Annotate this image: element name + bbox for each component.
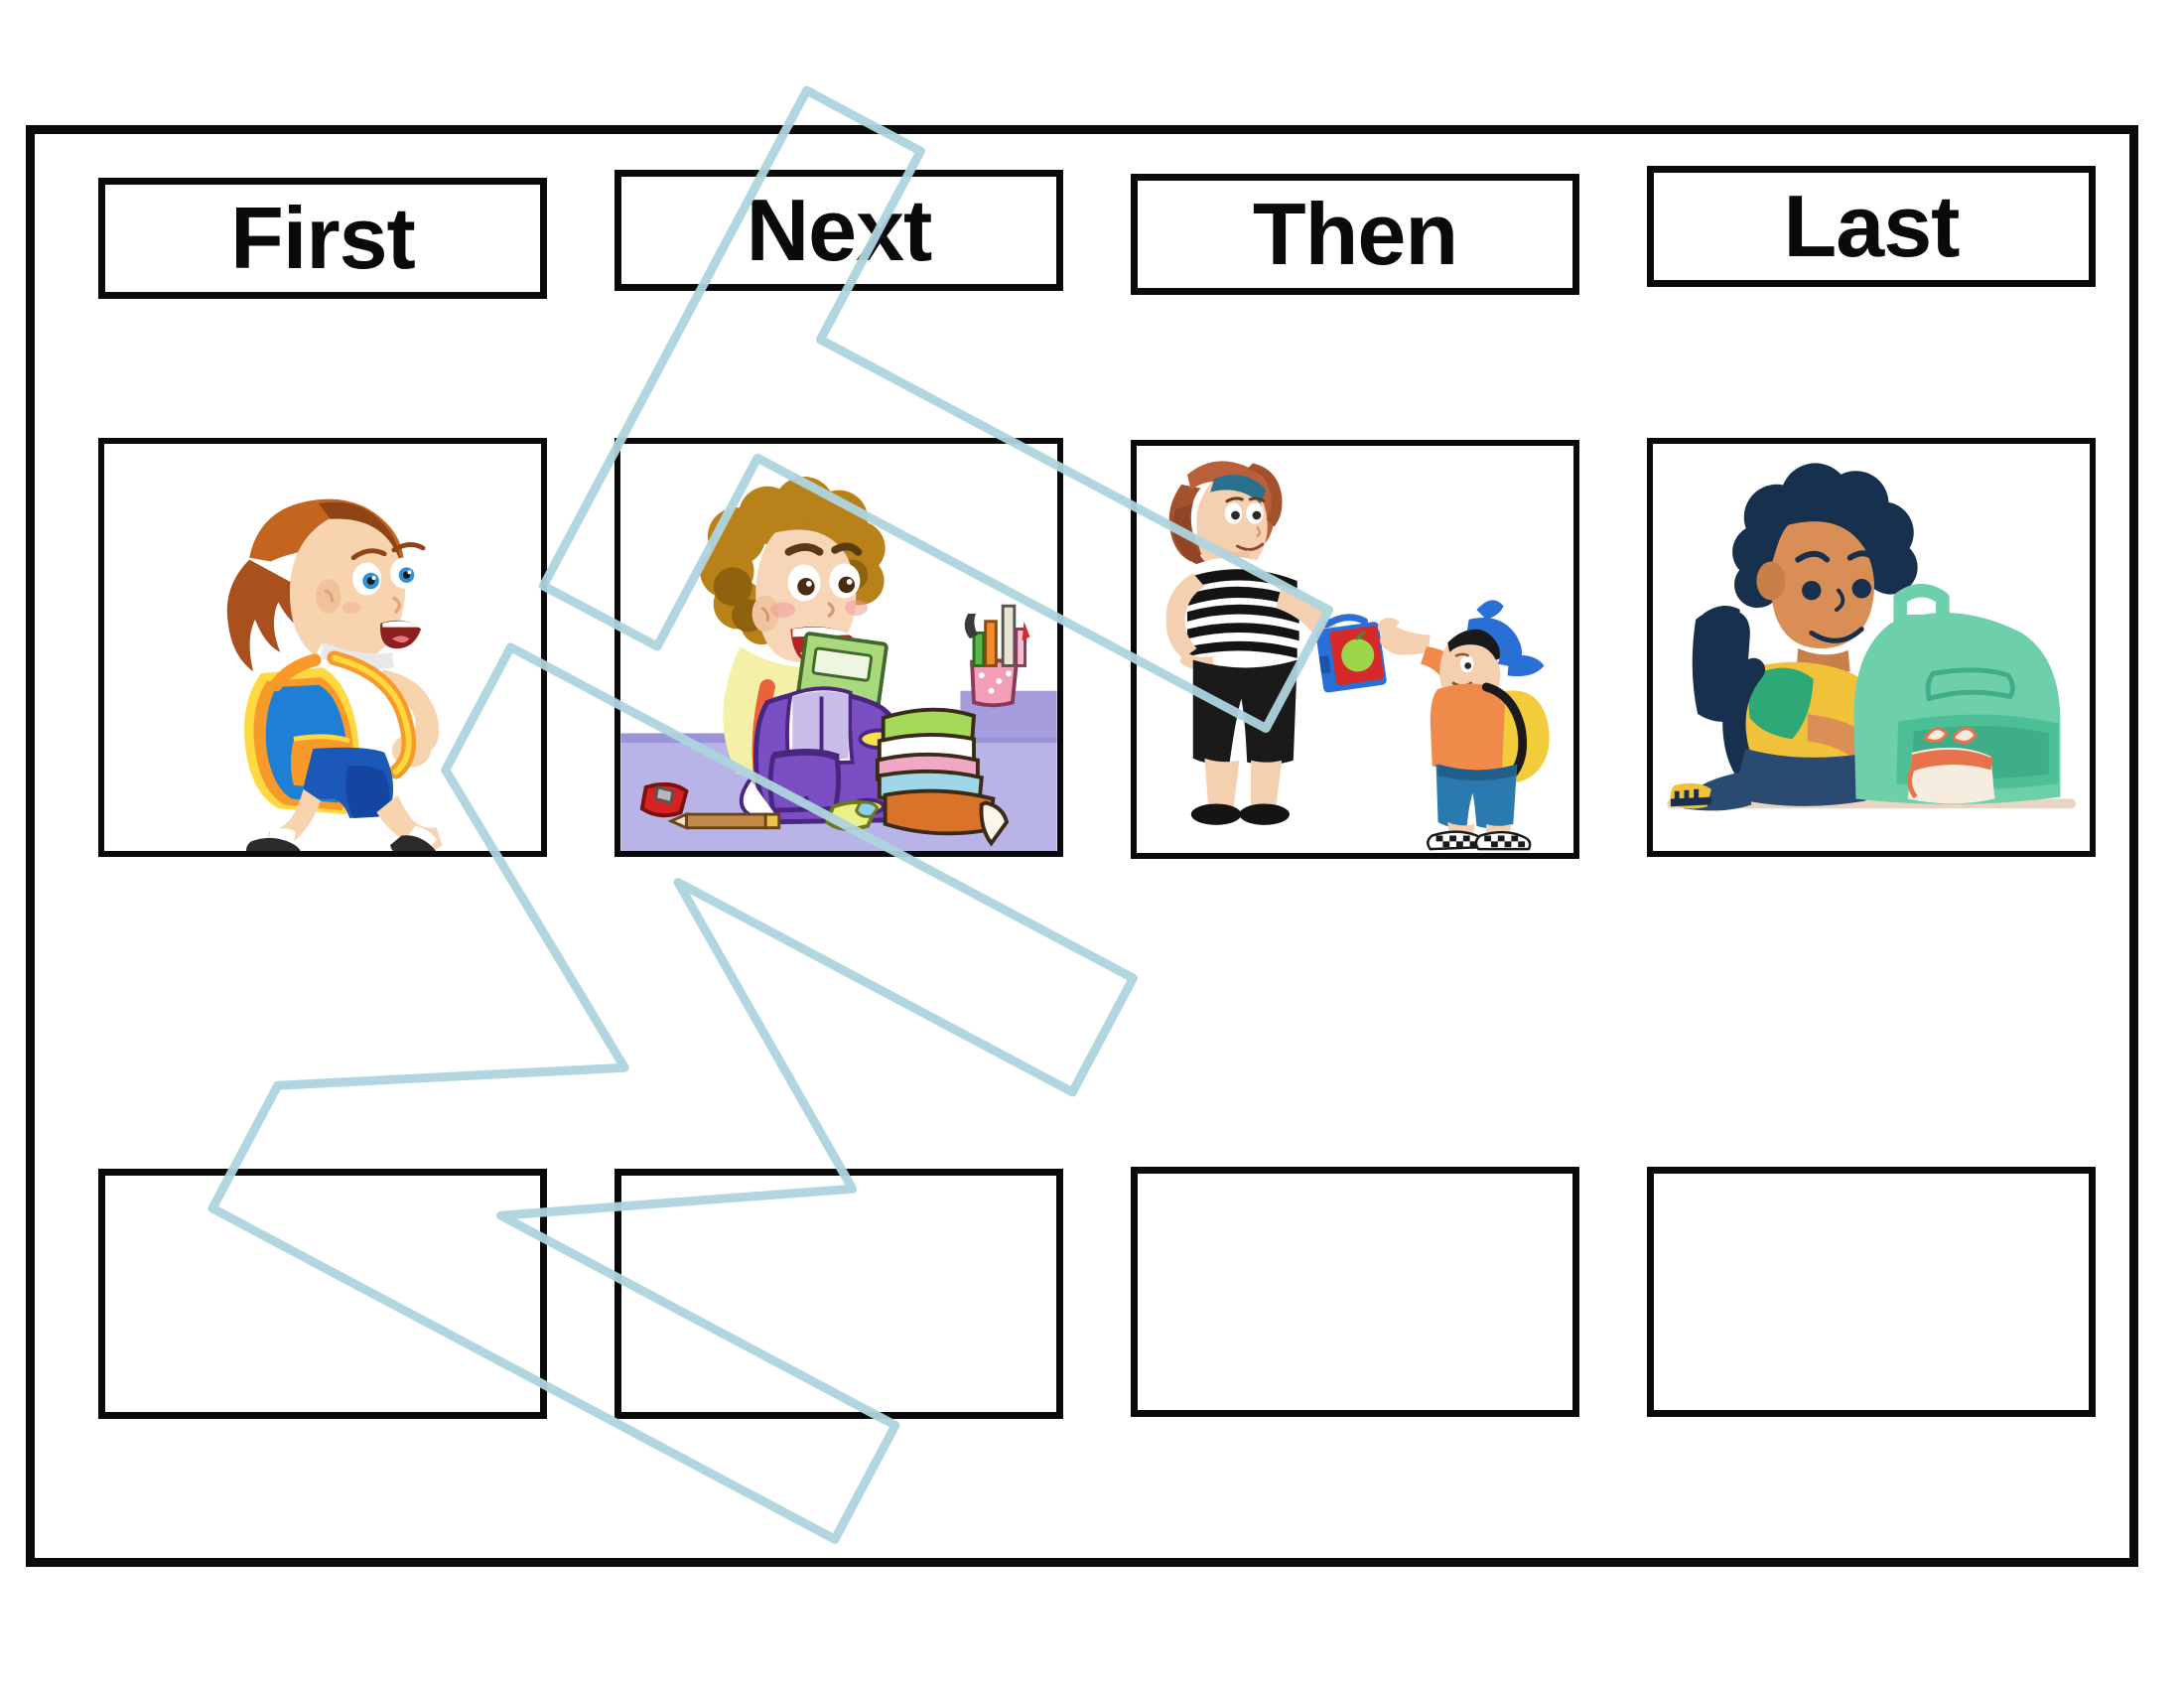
step-picture-box-next xyxy=(614,438,1063,857)
step-label-text-first: First xyxy=(230,195,415,282)
answer-box-first[interactable] xyxy=(98,1169,547,1419)
step-label-text-last: Last xyxy=(1784,183,1960,270)
step-picture-box-first xyxy=(98,438,547,857)
worksheet-outer-frame: First xyxy=(26,125,2138,1567)
step-picture-box-then xyxy=(1131,440,1579,859)
mother-handing-lunchbox-to-child-illustration xyxy=(1137,446,1573,853)
step-picture-box-last xyxy=(1647,438,2096,857)
step-label-text-then: Then xyxy=(1253,191,1457,278)
sequence-column-then: Then xyxy=(1131,134,1587,1576)
sequence-grid: First xyxy=(35,134,2147,1576)
boy-walking-with-backpack-illustration xyxy=(104,444,541,851)
answer-box-next[interactable] xyxy=(614,1169,1063,1419)
boy-packing-backpack-with-books-illustration xyxy=(620,444,1057,851)
step-label-box-next: Next xyxy=(614,170,1063,291)
boy-kneeling-with-green-backpack-illustration xyxy=(1653,444,2090,851)
step-label-text-next: Next xyxy=(747,187,932,274)
answer-box-then[interactable] xyxy=(1131,1167,1579,1417)
sequence-column-last: Last xyxy=(1647,134,2104,1576)
step-label-box-then: Then xyxy=(1131,174,1579,295)
sequence-column-next: Next xyxy=(614,134,1071,1576)
answer-box-last[interactable] xyxy=(1647,1167,2096,1417)
step-label-box-last: Last xyxy=(1647,166,2096,287)
step-label-box-first: First xyxy=(98,178,547,299)
sequence-column-first: First xyxy=(98,134,555,1576)
